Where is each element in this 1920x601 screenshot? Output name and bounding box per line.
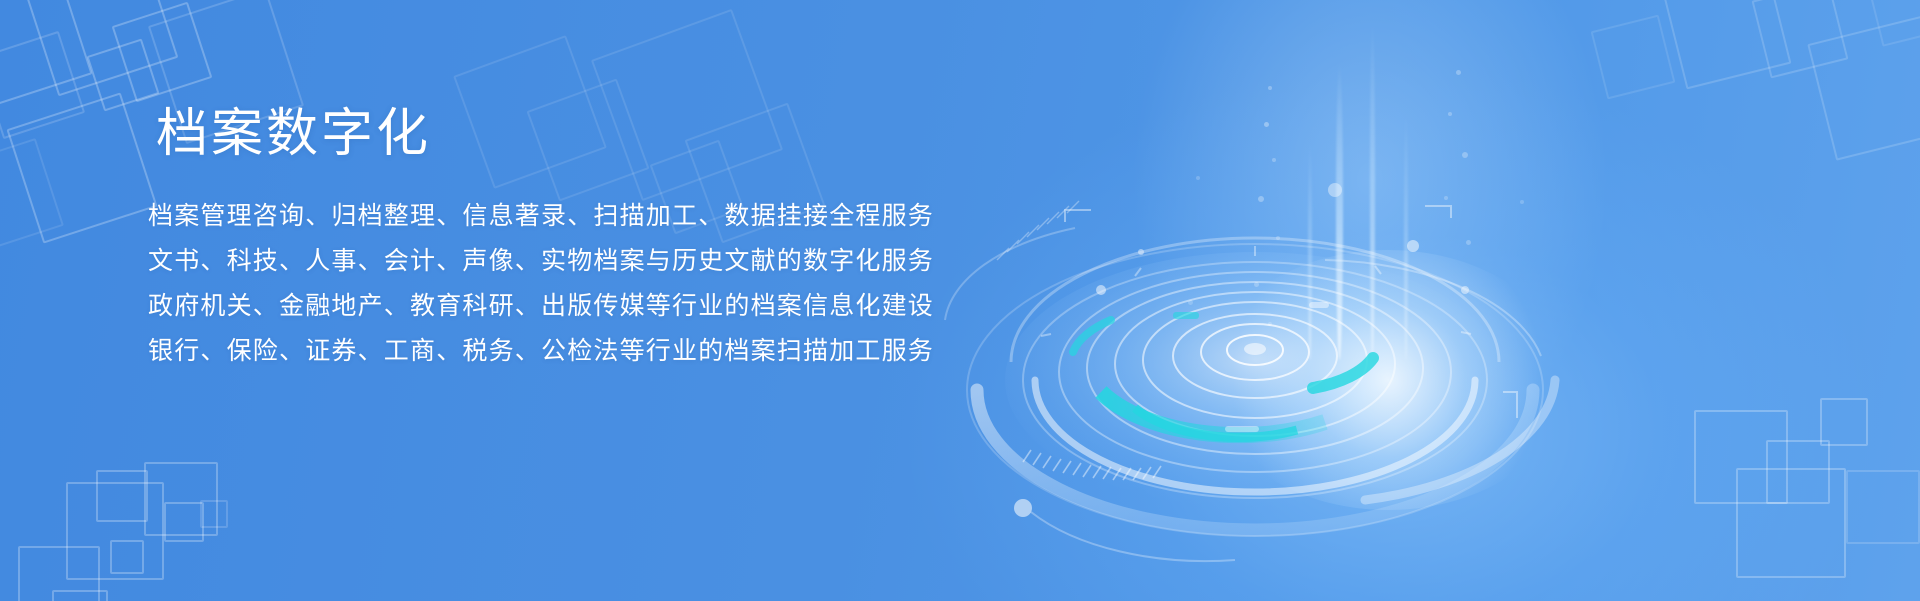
page-title: 档案数字化 — [156, 108, 1008, 160]
light-beam — [1404, 110, 1408, 360]
description-line-1: 档案管理咨询、归档整理、信息著录、扫描加工、数据挂接全程服务 — [148, 194, 1008, 239]
light-beam — [1370, 20, 1375, 360]
banner-text-block: 档案数字化 档案管理咨询、归档整理、信息著录、扫描加工、数据挂接全程服务 文书、… — [148, 108, 1008, 374]
decor-square — [200, 500, 228, 528]
light-glow — [1208, 250, 1568, 510]
particle-dot — [1448, 112, 1452, 116]
particle-dot — [1188, 300, 1193, 305]
particle-dot — [1258, 196, 1264, 202]
hero-banner: 档案数字化 档案管理咨询、归档整理、信息著录、扫描加工、数据挂接全程服务 文书、… — [0, 0, 1920, 601]
particle-dot — [1196, 176, 1200, 180]
particle-dot — [1264, 122, 1269, 127]
decor-square — [1736, 468, 1846, 578]
particle-dot — [1272, 158, 1276, 162]
decor-square — [96, 470, 148, 522]
particle-dot — [1444, 196, 1448, 200]
particle-dot — [1268, 322, 1272, 326]
particle-dot — [1254, 282, 1259, 287]
particle-dot — [1462, 152, 1468, 158]
particle-dot — [1466, 240, 1471, 245]
description-line-2: 文书、科技、人事、会计、声像、实物档案与历史文献的数字化服务 — [148, 239, 1008, 284]
decor-square — [110, 540, 144, 574]
light-beam — [1308, 140, 1312, 360]
particle-dot — [1520, 200, 1524, 204]
particle-dot — [1268, 86, 1272, 90]
particle-dot — [1276, 236, 1280, 240]
particle-dot — [1456, 70, 1461, 75]
decor-square — [164, 502, 204, 542]
decor-square — [1820, 398, 1868, 446]
description-line-4: 银行、保险、证券、工商、税务、公检法等行业的档案扫描加工服务 — [148, 329, 1008, 374]
decor-square — [52, 590, 108, 601]
decor-square — [1846, 470, 1920, 544]
decor-square — [1591, 15, 1676, 100]
light-beam — [1336, 60, 1343, 360]
description-line-3: 政府机关、金融地产、教育科研、出版传媒等行业的档案信息化建设 — [148, 284, 1008, 329]
